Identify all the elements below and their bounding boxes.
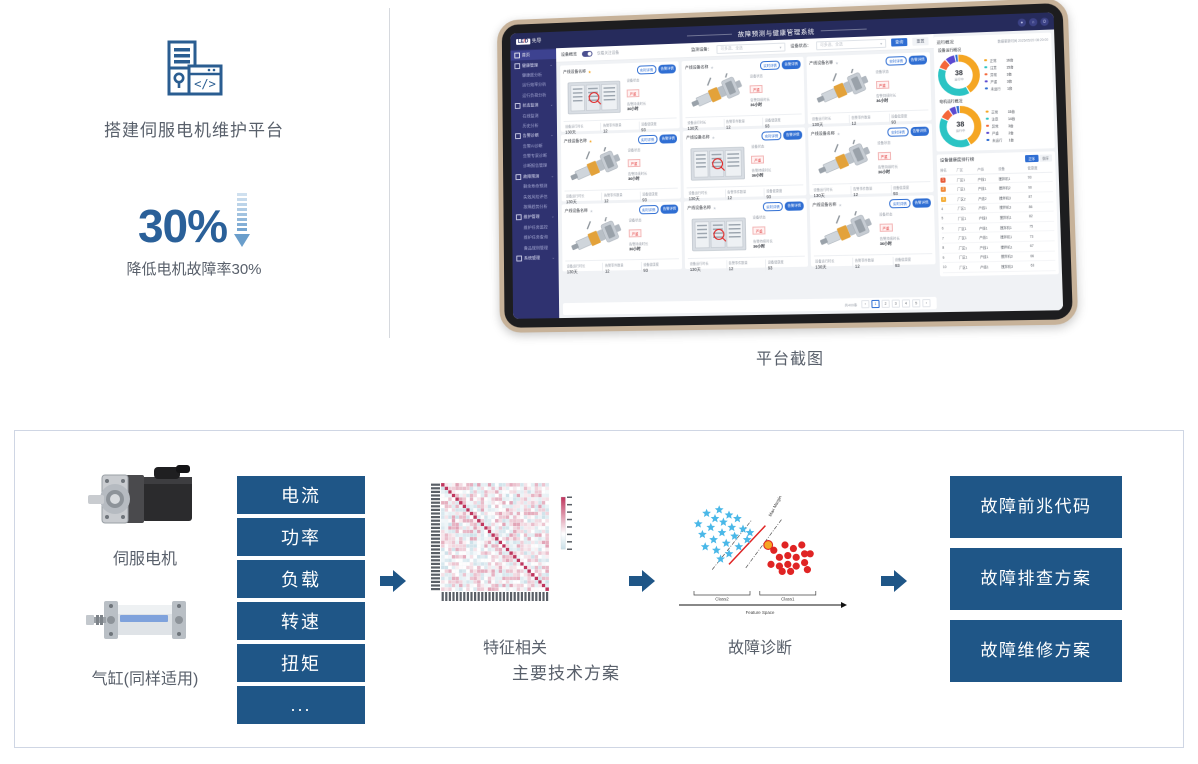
step-fault-diagnosis: Max MarginClass2Class1Feature Space 故障诊断	[665, 481, 855, 658]
legend-value: 1台	[1007, 85, 1012, 90]
rank-card: 设备健康度排行榜 正序 倒序 排名厂区产线设备健康度 1 厂区1	[937, 151, 1059, 276]
status-label: 设备状态	[750, 71, 801, 78]
sidebar-item-20[interactable]: 系统管理⌄	[512, 253, 558, 264]
donut-section-1: 电机运行概况 38 运行中 正常 15台 注意 14台 异常 3台 严重 2台	[938, 96, 1051, 148]
rank-cell-rank: 2	[941, 184, 958, 194]
chevron-down-icon: ▾	[780, 44, 782, 49]
output-line2: 排查方案	[1018, 567, 1092, 592]
alarm-duration-value: 36小时	[627, 105, 677, 112]
chevron-down-icon: ⌄	[550, 133, 553, 137]
donut-label: 运行中	[956, 128, 965, 132]
tablet-device: LE/D 先导 故障预测与健康管理系统 ● ⌂ ⏻	[497, 0, 1078, 333]
legend-dot	[985, 80, 988, 83]
source-servo-motor: 伺服电机	[70, 459, 220, 569]
metric-health: 设备健康度 93	[642, 261, 680, 274]
donut-legend: 正常 15台 注意 14台 异常 3台 严重 2台 未运行 1台	[981, 106, 1051, 144]
realtime-detail-button[interactable]: 实时详情	[761, 131, 781, 140]
alarm-detail-button[interactable]: 告警详情	[658, 64, 676, 73]
sidebar-item-label: 告警诊断	[523, 133, 539, 139]
metric-runtime: 设备运行时长 130天	[814, 257, 854, 270]
rank-cell-health: 73	[1030, 231, 1055, 241]
search-button[interactable]: 查询	[891, 38, 907, 47]
vertical-divider	[389, 8, 390, 338]
page-prev[interactable]: ‹	[861, 300, 869, 308]
sidebar-item-label: 备品规则管理	[524, 245, 548, 251]
rank-tabs[interactable]: 正序 倒序	[1025, 154, 1052, 161]
predict-icon	[515, 174, 521, 180]
metric-health: 设备健康度 93	[766, 258, 805, 271]
step-label: 特征相关	[483, 634, 547, 658]
device-card-body: 设备状态 严重 告警持续时长 36小时	[564, 145, 678, 189]
app-header-icons: ● ⌂ ⏻	[1018, 17, 1049, 26]
device-card-buttons: 实时详情 告警详情	[639, 204, 679, 213]
device-card-body: 设备状态 严重 告警持续时长 36小时	[565, 215, 679, 258]
overview-card: 运行概况 数据更新时间 2025/05/20 08:20:00 设备运行概况 3…	[933, 33, 1054, 152]
output-line1: 故障	[981, 567, 1018, 592]
device-status-block: 设备状态 严重 告警持续时长 36小时	[751, 212, 805, 254]
status-select-placeholder: 可多选、全选	[820, 42, 843, 48]
device-name: 产线设备名称	[809, 60, 833, 67]
parameter-box-0: 电流	[237, 476, 365, 514]
alarm-duration-value: 36小时	[878, 169, 930, 175]
alarm-duration-value: 36小时	[880, 240, 932, 246]
main-area: 设备概览 仅看关注设备 监测设备： 可多选、全选 ▾ 设备状	[556, 29, 1063, 318]
realtime-detail-button[interactable]: 实时详情	[886, 56, 907, 65]
status-label: 设备状态	[875, 67, 927, 74]
favorite-star-icon[interactable]: ★	[589, 139, 593, 144]
flow-diagram: 伺服电机	[15, 431, 1183, 747]
tech-caption: 主要技术方案	[512, 659, 620, 684]
legend-name: 严重	[992, 130, 1009, 136]
device-card[interactable]: 产线设备名称 ★ 实时详情 告警详情 设备状态 严重 告警持续	[683, 127, 806, 198]
device-select[interactable]: 可多选、全选 ▾	[716, 42, 785, 53]
device-status-block: 设备状态 严重 告警持续时长 36小时	[626, 145, 678, 187]
rank-table: 排名厂区产线设备健康度 1 厂区1 产线1 搅拌机1 932 厂区1 产线1 搅…	[940, 163, 1056, 273]
device-name: 产线设备名称	[565, 208, 588, 214]
wrench-icon	[516, 215, 522, 221]
right-panel: 运行概况 数据更新时间 2025/05/20 08:20:00 设备运行概况 3…	[933, 29, 1063, 312]
realtime-detail-button[interactable]: 实时详情	[760, 61, 780, 70]
svg-text:Class2: Class2	[715, 597, 729, 602]
source-column: 伺服电机	[70, 459, 220, 689]
realtime-detail-button[interactable]: 实时详情	[888, 127, 909, 136]
alarm-detail-button[interactable]: 告警详情	[912, 198, 931, 207]
rank-cell-rank: 3	[941, 194, 958, 204]
status-badge: 严重	[629, 229, 642, 237]
app-logo[interactable]: LE/D 先导	[510, 35, 584, 45]
rank-cell-health: 75	[1029, 221, 1054, 231]
alarm-detail-button[interactable]: 告警详情	[660, 204, 678, 213]
sidebar-item-label: 告警专家诊断	[523, 153, 547, 160]
rank-cell-rank: 5	[941, 214, 958, 224]
device-card-body: 设备状态 严重 告警持续时长 36小时	[813, 209, 933, 253]
device-photo	[564, 146, 626, 188]
device-card[interactable]: 产线设备名称 ★ 实时详情 告警详情 设备状态 严重 告警持续时长	[808, 123, 934, 195]
device-photo	[686, 143, 750, 185]
device-card[interactable]: 产线设备名称 ★ 实时详情 告警详情 设备状态 严重 告警持续时长	[561, 131, 681, 201]
device-name: 产线设备名称	[564, 138, 587, 145]
legend-name: 未运行	[991, 85, 1008, 91]
rank-cell-rank: 6	[942, 223, 959, 233]
stat-caption: 降低电机故障率30%	[126, 258, 261, 279]
legend-value: 3台	[1008, 122, 1013, 127]
legend-name: 正常	[991, 108, 1008, 114]
source-label: 气缸(同样适用)	[92, 665, 199, 689]
device-photo	[687, 213, 751, 255]
sidebar-item-label: 告警AI诊断	[523, 143, 543, 149]
parameter-box-4: 扭矩	[237, 644, 365, 682]
rank-cell-rank: 7	[942, 233, 959, 243]
rank-cell-line: 产线1	[980, 262, 1001, 272]
favorite-star-icon[interactable]: ★	[710, 65, 714, 70]
app-title-text: 故障预测与健康管理系统	[738, 28, 815, 38]
highlights-column: </> 搭建伺服电机维护平台 30%	[0, 40, 388, 340]
page-1[interactable]: 1	[871, 300, 879, 308]
app-body: 首页健康管理⌄健康度分析运行效率分析运行负荷分析状态监测⌄在线监测历史分析告警诊…	[510, 29, 1063, 318]
device-name: 产线设备名称	[811, 131, 835, 138]
favorite-star-icon[interactable]: ★	[838, 202, 842, 207]
air-cylinder-photo	[80, 579, 210, 659]
rank-cell-plant: 厂区1	[959, 262, 980, 272]
device-card-buttons: 实时详情 告警详情	[637, 64, 677, 74]
top-section: </> 搭建伺服电机维护平台 30%	[0, 0, 1198, 390]
realtime-detail-button[interactable]: 实时详情	[638, 135, 658, 144]
legend-name: 严重	[990, 78, 1007, 84]
rank-cell-line: 产线2	[978, 193, 999, 203]
status-label: 设备状态	[877, 138, 929, 145]
device-status-block: 设备状态 严重 告警持续时长 36小时	[627, 215, 680, 257]
status-badge: 严重	[750, 85, 763, 93]
legend-value: 15台	[1006, 64, 1013, 69]
device-card-body: 设备状态 严重 告警持续时长 36小时	[685, 70, 801, 114]
rank-cell-plant: 厂区1	[957, 184, 978, 194]
favorites-toggle[interactable]	[582, 51, 593, 57]
device-card-body: 设备状态 严重 告警持续时长 36小时	[811, 137, 930, 181]
parameter-box-1: 功率	[237, 518, 365, 556]
device-card-body: 设备状态 严重 告警持续时长 36小时	[563, 75, 677, 119]
sidebar-item-label: 失效风险评估	[523, 194, 547, 200]
sidebar[interactable]: 首页健康管理⌄健康度分析运行效率分析运行负荷分析状态监测⌄在线监测历史分析告警诊…	[510, 48, 559, 319]
legend-dot	[986, 132, 989, 135]
output-box-1: 故障排查方案	[950, 548, 1122, 610]
realtime-detail-button[interactable]: 实时详情	[889, 199, 910, 208]
source-air-cylinder: 气缸(同样适用)	[70, 579, 220, 689]
device-cards-area: 产线设备名称 ★ 实时详情 告警详情 设备状态 严重 告警持续	[556, 49, 940, 300]
metric-runtime: 设备运行时长 130天	[565, 262, 603, 275]
rank-tab-desc[interactable]: 倒序	[1039, 154, 1052, 161]
alarm-duration-value: 36小时	[876, 97, 928, 104]
legend-dot	[985, 87, 988, 90]
legend-name: 异常	[992, 123, 1009, 129]
device-card[interactable]: 产线设备名称 ★ 实时详情 告警详情 设备状态 严重 告警持续时长	[809, 195, 935, 267]
svm-scatter-chart: Max MarginClass2Class1Feature Space	[665, 481, 855, 626]
status-select-label: 设备状态：	[790, 43, 811, 50]
device-photo	[809, 68, 874, 111]
chevron-down-icon: ⌄	[551, 174, 554, 178]
device-name: 产线设备名称	[685, 64, 709, 71]
parameter-box-2: 负载	[237, 560, 365, 598]
rank-cell-rank: 8	[942, 243, 959, 253]
device-name: 产线设备名称	[563, 69, 586, 76]
alarm-detail-button[interactable]: 告警详情	[659, 134, 677, 143]
device-photo	[811, 139, 876, 182]
device-card[interactable]: 产线设备名称 ★ 实时详情 告警详情 设备状态 严重 告警持续	[684, 198, 807, 269]
legend-name: 未运行	[992, 137, 1009, 143]
donut-legend: 正常 16台 注意 15台 异常 3台 严重 3台 未运行 1台	[980, 54, 1050, 92]
device-photo	[813, 210, 878, 253]
device-card-buttons: 实时详情 告警详情	[638, 134, 678, 144]
legend-value: 16台	[1006, 57, 1013, 62]
status-label: 设备状态	[627, 76, 677, 83]
page-4[interactable]: 4	[902, 299, 910, 307]
device-name: 产线设备名称	[686, 134, 710, 141]
donut-row: 38 运行中 正常 15台 注意 14台 异常 3台 严重 2台 未运行 1台	[938, 103, 1051, 149]
rank-badge: 3	[941, 197, 946, 202]
rank-cell-health: 93	[1028, 172, 1053, 182]
chevron-down-icon: ⌄	[551, 215, 554, 219]
rank-badge: 2	[941, 187, 946, 192]
tablet-figure: LE/D 先导 故障预测与健康管理系统 ● ⌂ ⏻	[470, 0, 1110, 390]
rank-cell-line: 产线1	[980, 252, 1001, 262]
device-card[interactable]: 产线设备名称 ★ 实时详情 告警详情 设备状态 严重 告警持续时长	[806, 52, 932, 124]
sidebar-item-label: 状态监测	[522, 102, 538, 108]
rank-table-row[interactable]: 10 厂区1 产线1 搅拌机3 63	[943, 260, 1056, 272]
alarm-duration-value: 36小时	[629, 246, 679, 252]
legend-dot	[984, 66, 987, 69]
status-label: 设备状态	[629, 216, 679, 222]
donut-center: 38 运行中	[937, 53, 981, 97]
device-status-block: 设备状态 严重 告警持续时长 36小时	[749, 141, 803, 183]
center-column: 设备概览 仅看关注设备 监测设备： 可多选、全选 ▾ 设备状	[556, 34, 941, 318]
servo-motor-photo	[80, 459, 210, 539]
device-card-buttons: 实时详情 告警详情	[886, 55, 927, 65]
device-status-block: 设备状态 严重 告警持续时长 36小时	[748, 70, 802, 112]
legend-name: 注意	[991, 116, 1008, 122]
rank-cell-health: 66	[1030, 251, 1055, 261]
rank-cell-device: 搅拌机3	[1001, 251, 1031, 261]
legend-value: 3台	[1007, 78, 1012, 83]
status-select[interactable]: 可多选、全选 ▾	[816, 38, 886, 50]
sidebar-item-label: 首页	[522, 52, 530, 58]
device-card-buttons: 实时详情 告警详情	[888, 127, 929, 137]
rank-cell-plant: 厂区1	[958, 213, 979, 223]
device-cards-grid: 产线设备名称 ★ 实时详情 告警详情 设备状态 严重 告警持续	[560, 52, 936, 271]
logo-cn-text: 先导	[532, 37, 542, 44]
device-card-head: 产线设备名称 ★ 实时详情 告警详情	[687, 201, 803, 212]
legend-value: 2台	[1008, 130, 1013, 135]
title-rule-right	[821, 29, 867, 32]
rank-title: 设备健康度排行榜	[940, 157, 974, 164]
legend-row: 未运行 1台	[985, 83, 1050, 92]
status-label: 设备状态	[753, 213, 804, 219]
stat-block: 30%	[126, 193, 261, 279]
page-2[interactable]: 2	[881, 300, 889, 308]
home-icon[interactable]: ⌂	[1029, 17, 1037, 25]
rank-cell-device: 搅拌机1	[1000, 241, 1030, 251]
health-icon	[514, 63, 520, 69]
pagination[interactable]: 共400条‹12345›	[563, 297, 937, 315]
legend-value: 14台	[1008, 115, 1015, 120]
alarm-duration-value: 36小时	[753, 243, 804, 249]
donut-charts: 设备运行概况 38 运行中 正常 16台 注意 15台 异常 3台 严重 3台	[937, 45, 1052, 149]
sidebar-item-label: 剩余寿命预测	[523, 183, 547, 190]
legend-row: 未运行 1台	[986, 135, 1051, 144]
favorite-star-icon[interactable]: ★	[588, 69, 592, 74]
parameter-column: 电流功率负载转速扭矩...	[237, 476, 365, 724]
device-card-buttons: 实时详情 告警详情	[760, 60, 800, 70]
sidebar-item-label: 维护任务查询	[524, 234, 548, 240]
device-card-head: 产线设备名称 ★ 实时详情 告警详情	[565, 204, 679, 215]
rank-cell-device: 搅拌机3	[1001, 261, 1031, 271]
rank-cell-rank: 4	[941, 204, 958, 214]
sidebar-item-label: 健康管理	[522, 62, 538, 68]
realtime-detail-button[interactable]: 实时详情	[763, 202, 783, 211]
rank-cell-plant: 厂区1	[957, 203, 978, 213]
sidebar-item-label: 维护任务监控	[524, 224, 548, 230]
device-select-placeholder: 可多选、全选	[720, 46, 742, 52]
donut-label: 运行中	[954, 77, 963, 81]
sidebar-item-label: 故障趋势分析	[523, 204, 547, 210]
device-photo	[565, 216, 627, 258]
down-arrow-icon	[234, 193, 250, 247]
output-line1: 故障	[981, 495, 1018, 520]
device-card[interactable]: 产线设备名称 ★ 实时详情 告警详情 设备状态 严重 告警持续	[560, 61, 680, 132]
right-arrow-icon	[629, 568, 655, 594]
rank-cell-line: 产线1	[978, 203, 999, 213]
legend-value: 1台	[1009, 137, 1014, 142]
status-label: 设备状态	[628, 146, 678, 152]
power-icon[interactable]: ⏻	[1040, 17, 1049, 25]
page-5[interactable]: 5	[912, 299, 920, 307]
rank-tab-asc[interactable]: 正序	[1025, 155, 1038, 162]
page-3[interactable]: 3	[892, 300, 900, 308]
rank-badge: 1	[940, 177, 945, 182]
realtime-detail-button[interactable]: 实时详情	[637, 65, 657, 74]
tablet-screen: LE/D 先导 故障预测与健康管理系统 ● ⌂ ⏻	[510, 12, 1063, 318]
alarm-detail-button[interactable]: 告警详情	[782, 60, 800, 69]
status-badge: 严重	[876, 81, 889, 89]
metric-alarm-count: 告警事件数量 12	[853, 257, 893, 270]
alarm-detail-button[interactable]: 告警详情	[910, 127, 929, 136]
parameter-box-3: 转速	[237, 602, 365, 640]
output-line1: 故障	[981, 639, 1018, 664]
favorite-star-icon[interactable]: ★	[712, 135, 716, 140]
title-rule-left	[687, 34, 732, 37]
page-next[interactable]: ›	[922, 299, 930, 307]
alarm-icon	[515, 133, 521, 139]
rank-cell-line: 产线1	[979, 222, 1000, 232]
svg-text:Class1: Class1	[781, 597, 795, 602]
legend-dot	[986, 117, 989, 120]
device-photo	[685, 72, 749, 115]
output-line2: 维修方案	[1018, 639, 1092, 664]
legend-name: 注意	[990, 64, 1007, 70]
svg-text:Feature Space: Feature Space	[746, 610, 775, 615]
rank-cell-health: 90	[1028, 182, 1053, 192]
monitor-icon	[515, 103, 521, 109]
device-card-body: 设备状态 严重 告警持续时长 36小时	[809, 66, 928, 111]
legend-dot	[986, 124, 989, 127]
rank-cell-line: 产线1	[977, 173, 998, 183]
legend-dot	[986, 110, 989, 113]
platform-caption: 搭建伺服电机维护平台	[104, 116, 284, 141]
device-card-buttons: 实时详情 告警详情	[889, 198, 931, 208]
favorite-star-icon[interactable]: ★	[835, 60, 839, 65]
output-box-2: 故障维修方案	[950, 620, 1122, 682]
device-card-metrics: 设备运行时长 130天 告警事件数量 12 设备健康度 93	[565, 258, 679, 276]
rank-cell-line: 产线3	[979, 213, 1000, 223]
sidebar-item-label: 运行效率分析	[522, 82, 546, 89]
realtime-detail-button[interactable]: 实时详情	[639, 205, 659, 214]
status-badge: 严重	[753, 227, 766, 235]
rank-cell-plant: 厂区1	[957, 174, 978, 184]
overview-label: 设备概览	[561, 51, 577, 57]
user-icon[interactable]: ●	[1018, 18, 1026, 26]
rank-cell-line: 产线1	[979, 242, 1000, 252]
parameter-box-5: ...	[237, 686, 365, 724]
rank-cell-line: 产线1	[978, 183, 999, 193]
legend-value: 3台	[1007, 71, 1012, 76]
alarm-detail-button[interactable]: 告警详情	[785, 201, 803, 210]
device-card[interactable]: 产线设备名称 ★ 实时详情 告警详情 设备状态 严重 告警持续时长	[562, 201, 683, 271]
status-label: 设备状态	[751, 142, 802, 148]
overview-title: 运行概况	[937, 39, 954, 46]
status-label: 设备状态	[879, 210, 931, 216]
rank-cell-plant: 厂区1	[958, 223, 979, 233]
device-select-label: 监测设备：	[691, 46, 712, 53]
step-feature-correlation: 特征相关	[415, 471, 615, 658]
donut-center: 38 运行中	[938, 105, 982, 149]
favorite-star-icon[interactable]: ★	[837, 131, 841, 136]
status-badge: 严重	[751, 156, 764, 164]
right-arrow-icon	[380, 568, 406, 594]
source-label: 伺服电机	[113, 545, 177, 569]
rank-cell-health: 86	[1029, 201, 1054, 211]
right-arrow-icon	[881, 568, 907, 594]
sidebar-item-label: 维护管理	[524, 214, 540, 220]
rank-table-body: 1 厂区1 产线1 搅拌机1 932 厂区1 产线1 搅拌机2 903 厂区2 …	[940, 172, 1055, 272]
output-line2: 前兆代码	[1018, 495, 1092, 520]
alarm-detail-button[interactable]: 告警详情	[908, 55, 927, 64]
reset-button[interactable]: 重置	[912, 37, 928, 46]
device-card-buttons: 实时详情 告警详情	[761, 130, 802, 140]
status-badge: 严重	[628, 159, 641, 167]
slide-root: </> 搭建伺服电机维护平台 30%	[0, 0, 1198, 764]
favorite-star-icon[interactable]: ★	[713, 205, 717, 210]
device-card[interactable]: 产线设备名称 ★ 实时详情 告警详情 设备状态 严重 告警持续时长	[682, 57, 805, 128]
updated-time: 数据更新时间 2025/05/20 08:20:00	[997, 36, 1048, 43]
step-label: 故障诊断	[728, 634, 792, 658]
favorite-star-icon[interactable]: ★	[590, 208, 594, 213]
sidebar-item-label: 历史分析	[523, 123, 539, 129]
rank-cell-rank: 10	[943, 262, 960, 272]
device-name: 产线设备名称	[687, 205, 711, 212]
device-card-body: 设备状态 严重 告警持续时长 36小时	[686, 141, 803, 185]
favorites-toggle-label: 仅看关注设备	[597, 50, 619, 56]
device-name: 产线设备名称	[812, 202, 836, 209]
legend-dot	[984, 59, 987, 62]
rank-cell-health: 82	[1029, 211, 1054, 221]
alarm-detail-button[interactable]: 告警详情	[784, 130, 802, 139]
status-badge: 严重	[878, 152, 891, 160]
heatmap-chart	[415, 471, 615, 626]
metric-alarm-count: 告警事件数量 12	[727, 259, 766, 272]
chevron-down-icon: ⌄	[550, 63, 553, 67]
output-column: 故障前兆代码故障排查方案故障维修方案	[950, 476, 1122, 682]
device-card-body: 设备状态 严重 告警持续时长 36小时	[687, 212, 804, 256]
rank-cell-plant: 厂区2	[957, 193, 978, 203]
total-count: 共400条	[845, 302, 858, 307]
